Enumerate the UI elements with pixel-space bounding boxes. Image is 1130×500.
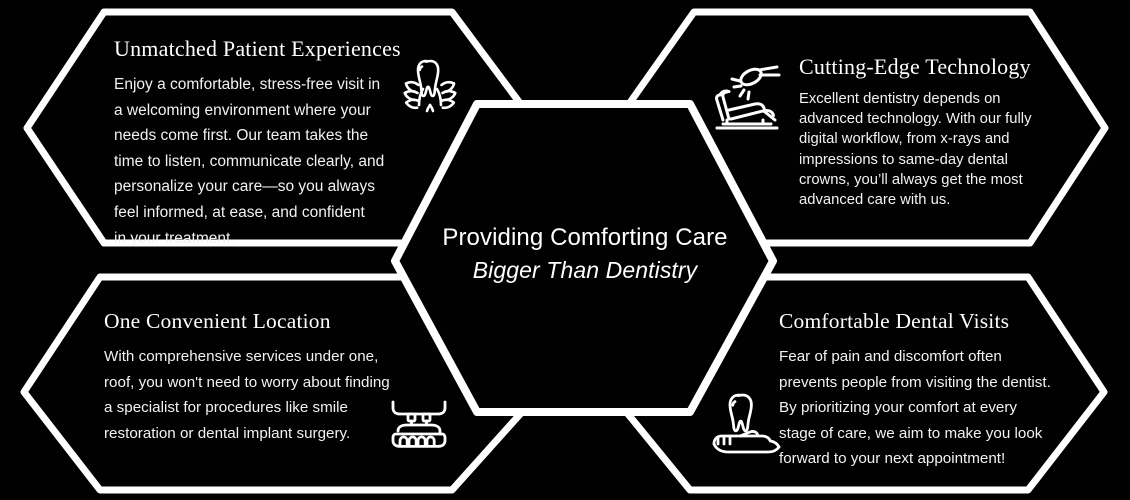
dental-chair-icon (707, 58, 785, 134)
body-line: needs come first. Our team takes the (114, 123, 424, 149)
body-line: a welcoming environment where your (114, 98, 424, 124)
body-line: By prioritizing your comfort at every (779, 395, 1089, 421)
body-line: personalize your care—so you always (114, 174, 424, 200)
infographic-canvas: Unmatched Patient Experiences Enjoy a co… (0, 0, 1130, 500)
body-line: feel informed, at ease, and confident (114, 200, 424, 226)
panel-heading: One Convenient Location (104, 308, 434, 334)
panel-cutting-edge-technology: Cutting-Edge Technology Excellent dentis… (799, 54, 1089, 210)
panel-comfortable-dental-visits: Comfortable Dental Visits Fear of pain a… (779, 308, 1089, 472)
dental-implant-icon (385, 398, 453, 450)
tooth-laurel-icon (398, 57, 470, 119)
panel-body: Excellent dentistry depends on advanced … (799, 89, 1089, 210)
body-line: crowns, you’ll always get the most (799, 170, 1089, 190)
center-tagline-secondary: Bigger Than Dentistry (400, 254, 770, 287)
body-line: Excellent dentistry depends on (799, 89, 1089, 109)
center-hexagon-content: Providing Comforting Care Bigger Than De… (400, 222, 770, 287)
body-line: Fear of pain and discomfort often (779, 344, 1089, 370)
body-line: forward to your next appointment! (779, 446, 1089, 472)
panel-body: Enjoy a comfortable, stress-free visit i… (114, 72, 424, 251)
body-line: With comprehensive services under one, (104, 344, 434, 370)
panel-heading: Comfortable Dental Visits (779, 308, 1089, 334)
body-line: time to listen, communicate clearly, and (114, 149, 424, 175)
body-line: advanced care with us. (799, 190, 1089, 210)
panel-unmatched-patient-experiences: Unmatched Patient Experiences Enjoy a co… (114, 36, 424, 251)
body-line: roof, you won't need to worry about find… (104, 370, 434, 396)
center-tagline-primary: Providing Comforting Care (400, 222, 770, 254)
body-line: in your treatment. (114, 226, 424, 252)
body-line: prevents people from visiting the dentis… (779, 370, 1089, 396)
panel-body: Fear of pain and discomfort often preven… (779, 344, 1089, 472)
body-line: digital workflow, from x-rays and (799, 129, 1089, 149)
panel-heading: Unmatched Patient Experiences (114, 36, 424, 62)
body-line: advanced technology. With our fully (799, 109, 1089, 129)
tooth-in-hand-icon (710, 392, 784, 454)
body-line: impressions to same-day dental (799, 150, 1089, 170)
body-line: Enjoy a comfortable, stress-free visit i… (114, 72, 424, 98)
panel-heading: Cutting-Edge Technology (799, 54, 1089, 80)
body-line: stage of care, we aim to make you look (779, 421, 1089, 447)
